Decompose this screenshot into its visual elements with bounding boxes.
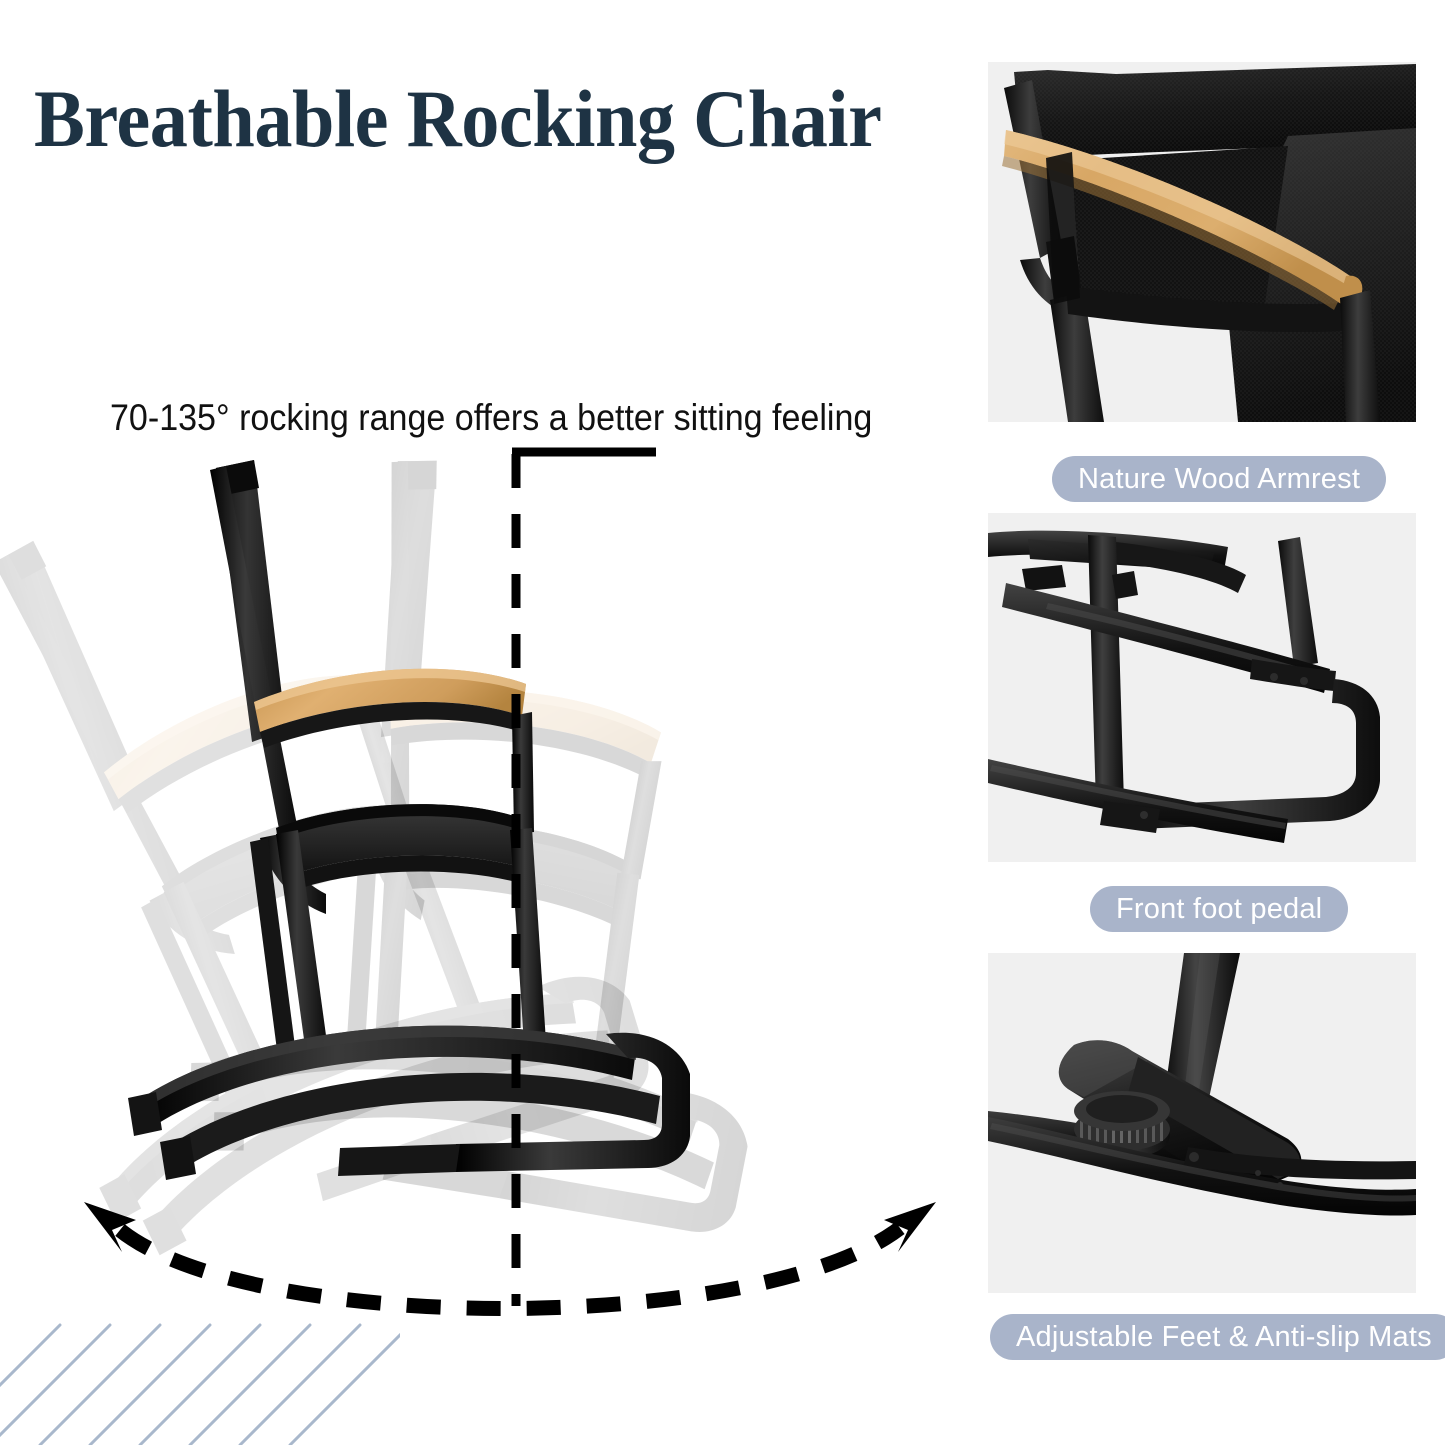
badge-nature-wood-armrest: Nature Wood Armrest [1052, 456, 1386, 502]
photo-panel-adjustable-feet [988, 953, 1416, 1293]
badge-adjustable-feet-antislip-mats: Adjustable Feet & Anti-slip Mats [990, 1314, 1445, 1360]
page-title: Breathable Rocking Chair [34, 78, 882, 160]
photo-panel-front-foot-pedal [988, 513, 1416, 862]
diagonal-stripe-pattern [0, 1320, 400, 1445]
badge-front-foot-pedal: Front foot pedal [1090, 886, 1348, 932]
rocking-chair-diagram [0, 430, 980, 1330]
photo-panel-armrest [988, 62, 1416, 422]
rocking-sweep-arc [84, 1202, 936, 1309]
